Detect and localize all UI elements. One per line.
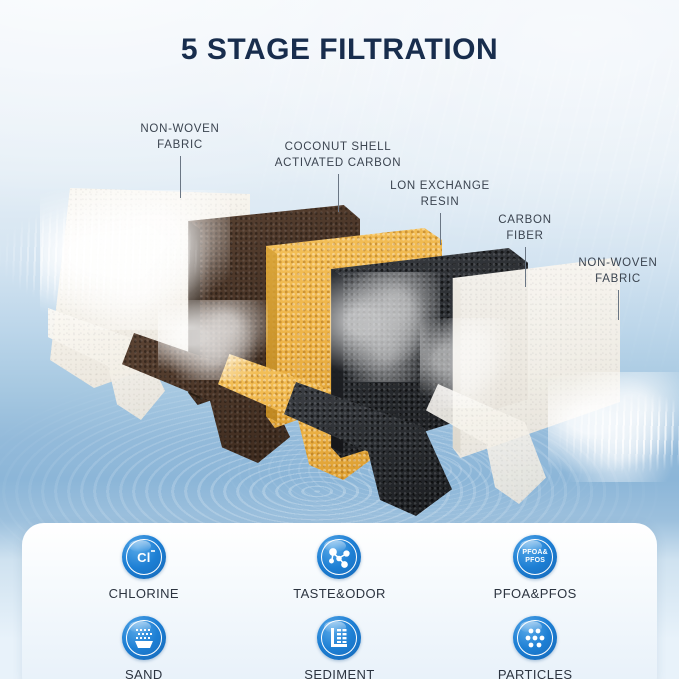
benefit-sediment[interactable]: SEDIMENT <box>242 616 438 679</box>
chlorine-icon-charge <box>122 535 166 579</box>
molecule-icon <box>317 535 361 579</box>
benefit-taste-odor[interactable]: TASTE&ODOR <box>242 535 438 616</box>
infographic-stage: 5 STAGE FILTRATION <box>0 0 679 679</box>
benefit-label: PARTICLES <box>498 667 573 679</box>
sand-grains-icon <box>122 616 166 660</box>
pfoa-pfos-icon-line-2: PFOS <box>525 557 545 565</box>
benefit-pfoa-pfos[interactable]: PFOA& PFOS PFOA&PFOS <box>437 535 633 616</box>
molecule-icon-glyph <box>317 535 361 579</box>
benefit-label: PFOA&PFOS <box>494 586 577 601</box>
callout-leader-line <box>440 213 441 245</box>
callout-non-woven-fabric-left: NON-WOVEN FABRIC <box>120 121 240 198</box>
particles-icon-glyph <box>513 616 557 660</box>
sand-icon-glyph <box>122 616 166 660</box>
callout-line-1: NON-WOVEN <box>578 257 657 269</box>
callout-line-1: CARBON <box>498 214 551 226</box>
sediment-icon-glyph <box>317 616 361 660</box>
callout-leader-line <box>338 174 339 212</box>
benefit-label: SAND <box>125 667 163 679</box>
benefit-label: CHLORINE <box>109 586 179 601</box>
benefits-card: Cl CHLORINE <box>22 523 657 679</box>
pfoa-pfos-icon-line-1: PFOA& <box>522 549 548 557</box>
benefit-label: TASTE&ODOR <box>293 586 386 601</box>
callout-line-1: NON-WOVEN <box>140 123 219 135</box>
benefit-label: SEDIMENT <box>304 667 374 679</box>
callout-leader-line <box>525 247 526 287</box>
callout-leader-line <box>618 290 619 320</box>
callout-line-1: COCONUT SHELL <box>285 141 392 153</box>
callout-line-2: FIBER <box>506 230 543 242</box>
benefits-grid: Cl CHLORINE <box>22 523 657 679</box>
pfoa-pfos-text-icon: PFOA& PFOS <box>513 535 557 579</box>
callout-line-2: RESIN <box>421 196 460 208</box>
benefit-particles[interactable]: PARTICLES <box>437 616 633 679</box>
callout-leader-line <box>180 156 181 198</box>
callout-line-2: FABRIC <box>595 273 641 285</box>
callout-line-2: FABRIC <box>157 139 203 151</box>
sediment-layers-icon <box>317 616 361 660</box>
particles-dots-icon <box>513 616 557 660</box>
callout-line-2: ACTIVATED CARBON <box>275 157 401 169</box>
benefit-chlorine[interactable]: Cl CHLORINE <box>46 535 242 616</box>
benefit-sand[interactable]: SAND <box>46 616 242 679</box>
callout-non-woven-fabric-right: NON-WOVEN FABRIC <box>558 255 678 320</box>
chlorine-ion-icon: Cl <box>122 535 166 579</box>
callout-line-1: LON EXCHANGE <box>390 180 490 192</box>
